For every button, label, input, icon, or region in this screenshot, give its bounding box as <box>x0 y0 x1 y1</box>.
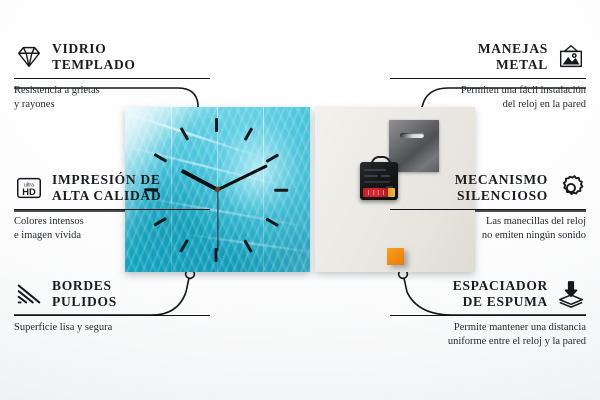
feature-desc-line1: Superficie lisa y segura <box>14 321 210 335</box>
diamond-icon <box>14 42 44 72</box>
feature-title-line2: TEMPLADO <box>52 57 136 73</box>
feature-desc-line2: y rayones <box>14 98 210 112</box>
feature-desc-line2: no emiten ningún sonido <box>390 229 586 243</box>
diagonal-lines-icon <box>14 279 44 309</box>
feature-desc-line1: Permiten una fácil instalación <box>390 84 586 98</box>
feature-title-line2: PULIDOS <box>52 294 117 310</box>
feature-title-line2: DE ESPUMA <box>453 294 548 310</box>
hanging-frame-icon <box>556 42 586 72</box>
feature-impresion-alta-calidad: ultra HD IMPRESIÓN DE ALTA CALIDAD Color… <box>14 172 210 243</box>
feature-desc-line1: Permite mantener una distancia <box>390 321 586 335</box>
feature-title-line2: SILENCIOSO <box>455 188 548 204</box>
divider <box>390 315 586 317</box>
divider <box>390 209 586 211</box>
feature-title-line2: ALTA CALIDAD <box>52 188 161 204</box>
feature-title-line2: METAL <box>478 57 548 73</box>
feature-desc-line2: uniforme entre el reloj y la pared <box>390 335 586 349</box>
feature-desc-line1: Colores intensos <box>14 215 210 229</box>
feature-title-line1: MECANISMO <box>455 172 548 188</box>
hour-marker <box>274 189 288 192</box>
feature-title-line1: ESPACIADOR <box>453 278 548 294</box>
feature-desc-line1: Las manecillas del reloj <box>390 215 586 229</box>
feature-title-line1: IMPRESIÓN DE <box>52 172 161 188</box>
feature-bordes-pulidos: BORDES PULIDOS Superficie lisa y segura <box>14 278 210 335</box>
mechanism-hanging-loop <box>371 156 391 167</box>
hands-center-cap <box>215 187 220 192</box>
feature-vidrio-templado: VIDRIO TEMPLADO Resistencia a grietas y … <box>14 41 210 112</box>
feature-title-line1: BORDES <box>52 278 117 294</box>
arrow-on-layers-icon <box>556 279 586 309</box>
second-hand <box>217 190 218 251</box>
gear-icon <box>556 173 586 203</box>
feature-manejas-metal: MANEJAS METAL Permiten una fácil instala… <box>390 41 586 112</box>
feature-desc-line1: Resistencia a grietas <box>14 84 210 98</box>
hanger-slot <box>400 133 424 138</box>
feature-espaciador-espuma: ESPACIADOR DE ESPUMA Permite mantener un… <box>390 278 586 349</box>
feature-desc-line2: del reloj en la pared <box>390 98 586 112</box>
feature-title-line1: MANEJAS <box>478 41 548 57</box>
feature-title-line1: VIDRIO <box>52 41 136 57</box>
feature-mecanismo-silencioso: MECANISMO SILENCIOSO Las manecillas del … <box>390 172 586 243</box>
foam-spacer <box>387 248 404 265</box>
feature-desc-line2: e imagen vívida <box>14 229 210 243</box>
divider <box>14 209 210 211</box>
divider <box>14 315 210 317</box>
hour-marker <box>215 118 218 132</box>
ultra-hd-icon: ultra HD <box>14 173 44 203</box>
ultra-hd-large-text: HD <box>22 187 36 197</box>
infographic-canvas: VIDRIO TEMPLADO Resistencia a grietas y … <box>0 0 600 400</box>
divider <box>14 78 210 80</box>
divider <box>390 78 586 80</box>
